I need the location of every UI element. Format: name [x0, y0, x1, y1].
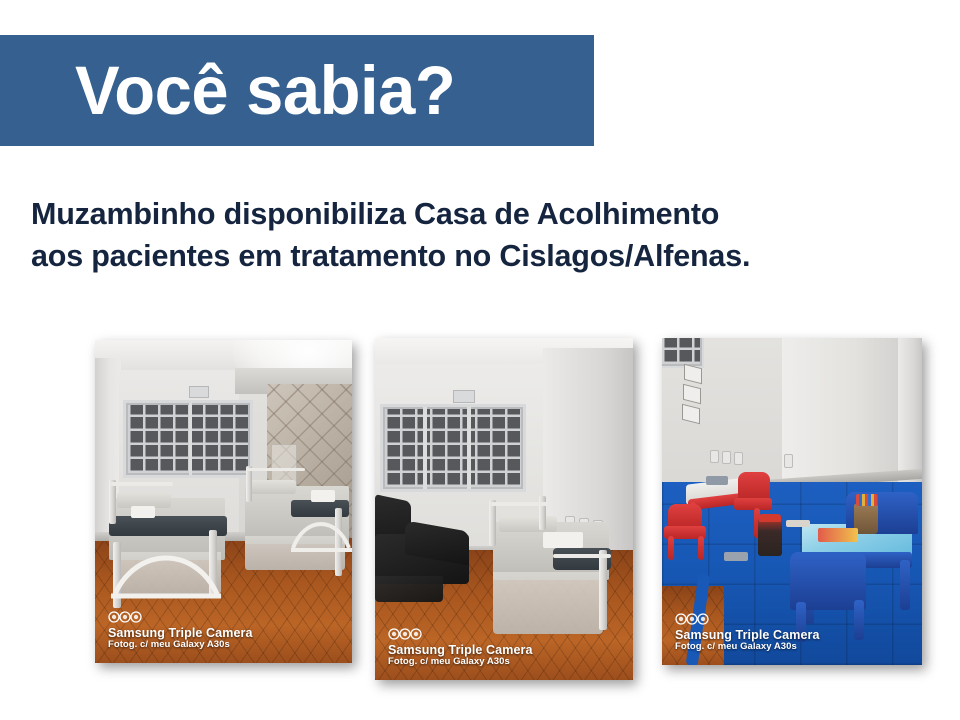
body-text-line-1: Muzambinho disponibiliza Casa de Acolhim…: [31, 193, 931, 235]
window-grid: [380, 404, 526, 492]
header-banner: Você sabia?: [0, 35, 594, 146]
bed-pillow: [499, 516, 557, 532]
wall-outlet-back: [784, 454, 793, 468]
samsung-triple-camera-icon: [388, 628, 422, 640]
bed-left-headrail: [111, 482, 173, 486]
photo-1-scene: Samsung Triple Camera Fotog. c/ meu Gala…: [95, 340, 352, 663]
photo-bedroom-two-beds[interactable]: Samsung Triple Camera Fotog. c/ meu Gala…: [95, 340, 352, 663]
samsung-triple-camera-icon: [108, 611, 142, 623]
wall-plaque: [453, 390, 475, 403]
bed-footrail: [553, 554, 611, 558]
bed-right-footboard-arch: [291, 500, 352, 562]
photo-3-scene: Samsung Triple Camera Fotog. c/ meu Gala…: [662, 338, 922, 665]
bed-skirt: [493, 572, 603, 634]
toy-jar-lid: [759, 514, 781, 522]
kid-table-blue-leg-2: [900, 560, 910, 610]
wall-outlet-left-3: [734, 452, 743, 465]
watermark-line-2: Fotog. c/ meu Galaxy A30s: [108, 640, 253, 651]
window-grid-corner: [662, 338, 704, 368]
body-text-line-2: aos pacientes em tratamento no Cislagos/…: [31, 235, 931, 277]
slide-body-text: Muzambinho disponibiliza Casa de Acolhim…: [31, 193, 931, 277]
watermark-line-2: Fotog. c/ meu Galaxy A30s: [675, 642, 820, 653]
watermark-line-2: Fotog. c/ meu Galaxy A30s: [388, 657, 533, 668]
bed-footpost-near: [599, 550, 607, 630]
toy-stick: [786, 520, 810, 527]
bed-right-headpost: [246, 466, 252, 502]
window-panes: [662, 338, 700, 364]
presentation-slide: Você sabia? Muzambinho disponibiliza Cas…: [0, 0, 960, 720]
window-mullion-vertical-1: [423, 407, 427, 489]
samsung-triple-camera-icon: [675, 613, 709, 625]
pencils: [856, 494, 878, 506]
bed-left-towel: [131, 506, 155, 518]
bed-left-footboard-arch: [111, 532, 221, 608]
photo-2-watermark: Samsung Triple Camera Fotog. c/ meu Gala…: [388, 628, 533, 668]
bed-left-headpost: [109, 480, 116, 524]
bed-right-headrail: [247, 468, 305, 471]
wall-outlet-left-1: [710, 450, 719, 463]
bed-towel: [543, 532, 583, 548]
window-panes: [128, 405, 248, 473]
photo-children-playroom[interactable]: Samsung Triple Camera Fotog. c/ meu Gala…: [662, 338, 922, 665]
window-panes: [385, 409, 521, 487]
photo-bedroom-one-bed-armchair[interactable]: Samsung Triple Camera Fotog. c/ meu Gala…: [375, 338, 633, 680]
photo-1-watermark: Samsung Triple Camera Fotog. c/ meu Gala…: [108, 611, 253, 651]
photo-2-scene: Samsung Triple Camera Fotog. c/ meu Gala…: [375, 338, 633, 680]
wall-plaque: [189, 386, 209, 398]
window-grid: [123, 400, 253, 478]
window-mullion-vertical: [189, 403, 192, 475]
kid-chair-blue-leg-near-2: [854, 600, 864, 640]
kid-chair-red-leg-near-2: [698, 536, 704, 560]
bed-headpost: [489, 500, 496, 546]
slide-title: Você sabia?: [75, 56, 455, 125]
window-mullion-vertical-2: [467, 407, 471, 489]
table-books: [818, 528, 858, 542]
kid-chair-red-seat-far: [734, 498, 772, 510]
bed-right-pillow: [250, 480, 296, 494]
table-items-red: [706, 476, 728, 485]
armchair-base: [375, 576, 443, 602]
toy-car: [724, 552, 748, 561]
photo-3-watermark: Samsung Triple Camera Fotog. c/ meu Gala…: [675, 613, 820, 653]
wall-outlet-left-2: [722, 451, 731, 464]
bed-headrail: [491, 502, 547, 506]
kid-chair-red-leg-near-1: [668, 536, 674, 560]
toy-jar: [758, 518, 782, 556]
